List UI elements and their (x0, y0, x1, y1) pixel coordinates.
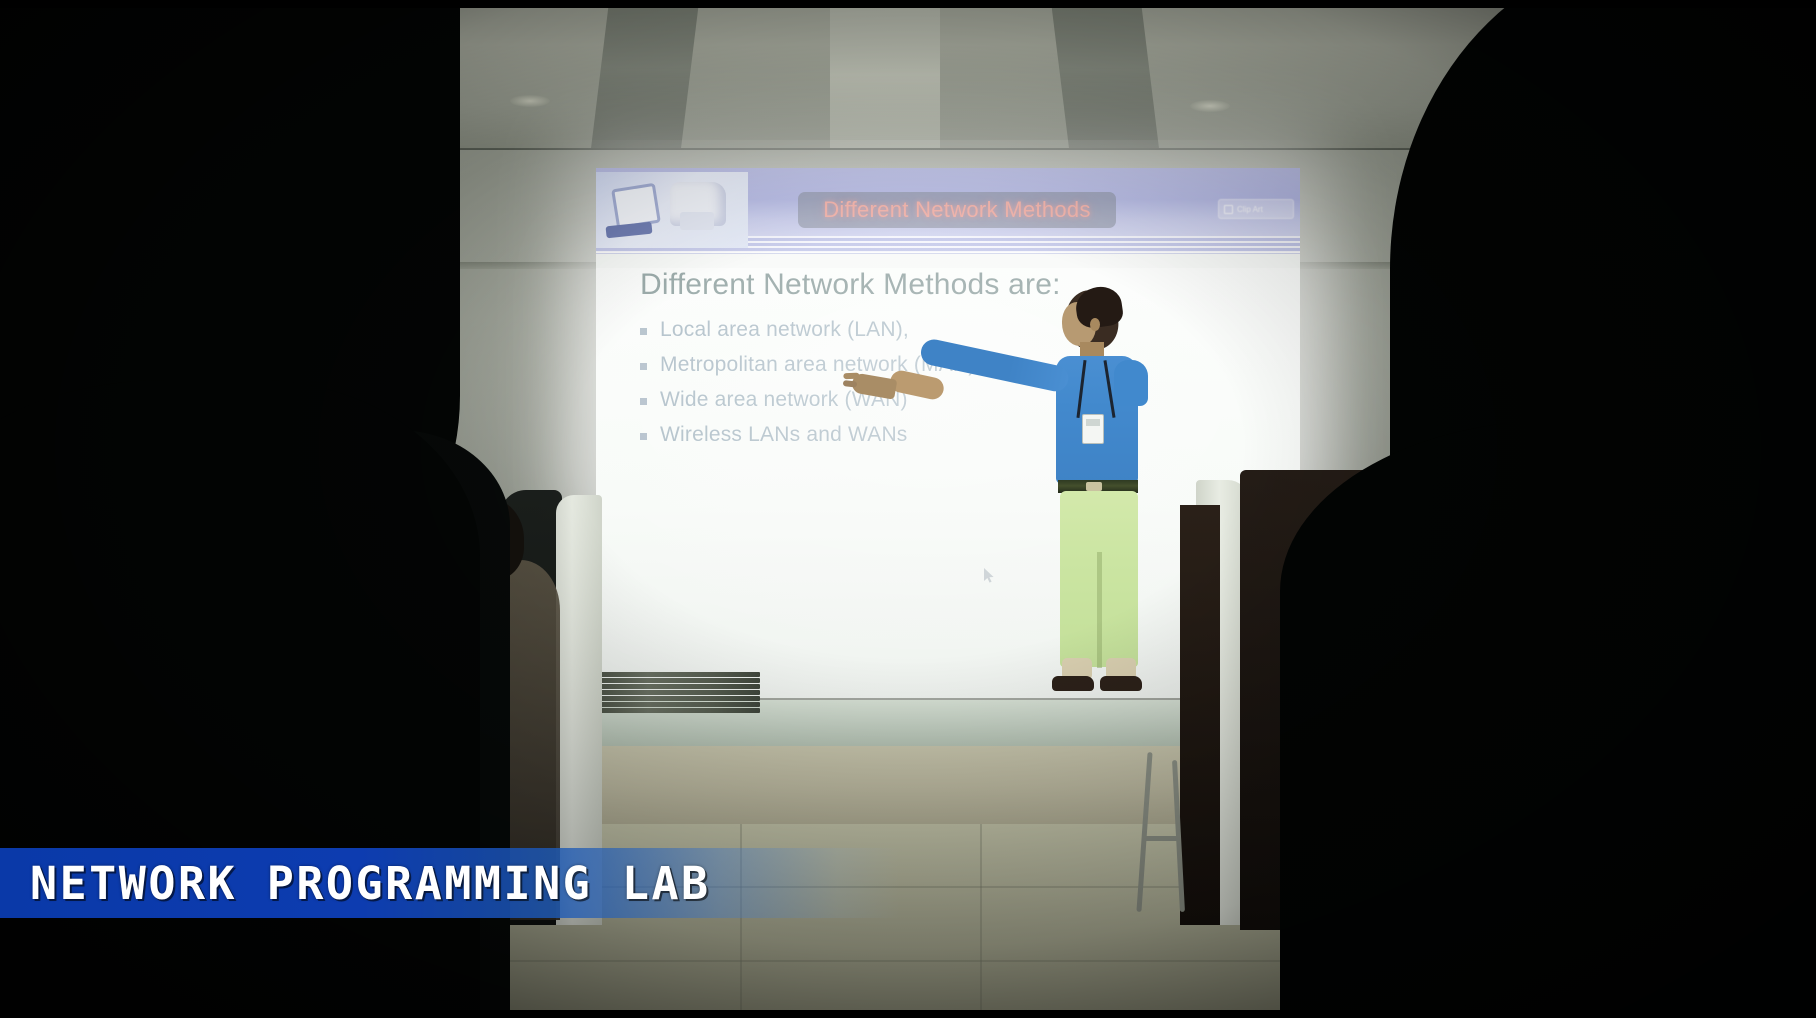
lecture-hall-photo: Different Network Methods Clip Art Diffe… (0, 0, 1816, 1018)
clip-art-button-label: Clip Art (1237, 205, 1263, 214)
presenter-id-badge (1082, 414, 1104, 444)
banner-title: NETWORK PROGRAMMING LAB (30, 857, 711, 910)
ceiling-beam-left (591, 0, 699, 150)
bullet-marker-icon (640, 328, 647, 335)
presenter-leg-split (1097, 552, 1102, 668)
slide-bullet-list: Local area network (LAN), Metropolitan a… (640, 318, 1280, 447)
chair-leg (1136, 752, 1152, 912)
lower-third-banner: NETWORK PROGRAMMING LAB (0, 848, 900, 918)
presenter-ear (1090, 318, 1100, 331)
clip-art-icon (1224, 205, 1233, 214)
slide-title-box: Different Network Methods (798, 192, 1116, 228)
bullet-marker-icon (640, 433, 647, 440)
clipart-printer-icon (670, 182, 726, 226)
bullet-marker-icon (640, 363, 647, 370)
slide-heading: Different Network Methods are: (640, 268, 1280, 302)
chair (1132, 752, 1190, 922)
bullet-marker-icon (640, 398, 647, 405)
list-item: Local area network (LAN), (640, 318, 1280, 342)
presenter-shoe-right (1100, 676, 1142, 691)
ceiling-downlight-left (510, 95, 550, 107)
bullet-text: Local area network (LAN), (660, 318, 909, 342)
bullet-text: Wireless LANs and WANs (660, 423, 908, 447)
presenter-shoe-left (1052, 676, 1094, 691)
audience-silhouette-left-body (0, 380, 480, 1018)
clipart-monitor-base (605, 222, 652, 239)
bottom-letterbox (0, 1010, 1816, 1018)
top-letterbox (0, 0, 1816, 8)
floor-tile-line (980, 824, 982, 1018)
presenter-belt-buckle (1086, 482, 1102, 491)
list-item: Wireless LANs and WANs (640, 423, 1280, 447)
list-item: Wide area network (WAN) (640, 388, 1280, 412)
audience-silhouette-right-body (1280, 420, 1816, 1018)
slide-title: Different Network Methods (823, 197, 1091, 223)
ceiling-beam-center (830, 0, 940, 150)
presenter-shoulder (1114, 360, 1148, 406)
slide-clipart-image (596, 172, 748, 248)
mouse-cursor-icon (984, 568, 995, 583)
ceiling-beam-right (1051, 0, 1159, 150)
clip-art-button[interactable]: Clip Art (1218, 199, 1294, 219)
paper-stack (600, 672, 760, 714)
chair-crossbar (1142, 836, 1180, 841)
presenter-figure (1040, 290, 1170, 730)
ceiling-downlight-right (1190, 100, 1230, 112)
